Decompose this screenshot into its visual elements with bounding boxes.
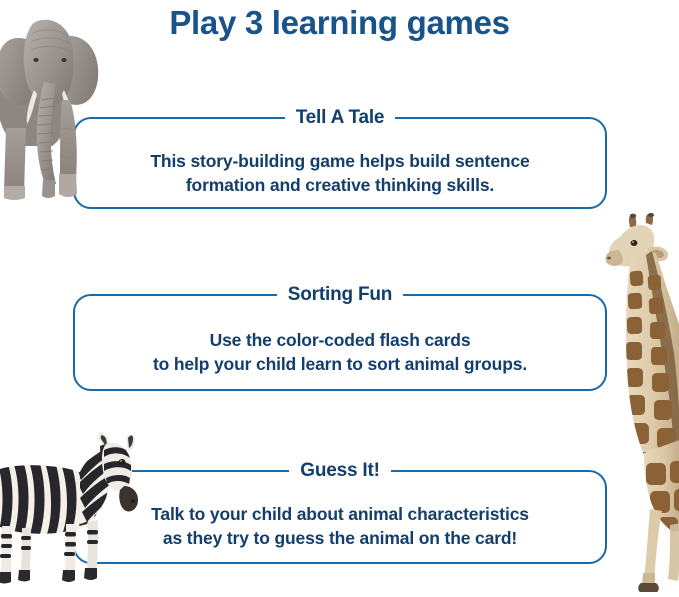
card-heading: Tell A Tale	[285, 105, 396, 130]
card-body-line: to help your child learn to sort animal …	[75, 352, 605, 376]
card-body-line: Use the color-coded flash cards	[75, 328, 605, 352]
card-body-line: This story-building game helps build sen…	[75, 149, 605, 173]
giraffe-photo	[604, 213, 679, 595]
zebra-photo	[0, 432, 142, 584]
card-heading-wrap: Guess It!	[75, 458, 605, 483]
card-tell-a-tale: Tell A Tale This story-building game hel…	[73, 117, 607, 209]
card-body: Use the color-coded flash cards to help …	[75, 328, 605, 376]
card-heading-wrap: Sorting Fun	[75, 282, 605, 307]
card-sorting-fun: Sorting Fun Use the color-coded flash ca…	[73, 294, 607, 391]
card-body: Talk to your child about animal characte…	[75, 502, 605, 550]
elephant-photo	[0, 8, 106, 206]
card-body-line: formation and creative thinking skills.	[75, 173, 605, 197]
card-body-line: Talk to your child about animal characte…	[75, 502, 605, 526]
card-heading-wrap: Tell A Tale	[75, 105, 605, 130]
card-heading: Guess It!	[289, 458, 391, 483]
card-body-line: as they try to guess the animal on the c…	[75, 526, 605, 550]
promo-graphic: Play 3 learning games	[0, 0, 679, 597]
card-guess-it: Guess It! Talk to your child about anima…	[73, 470, 607, 564]
card-body: This story-building game helps build sen…	[75, 149, 605, 197]
card-heading: Sorting Fun	[277, 282, 403, 307]
